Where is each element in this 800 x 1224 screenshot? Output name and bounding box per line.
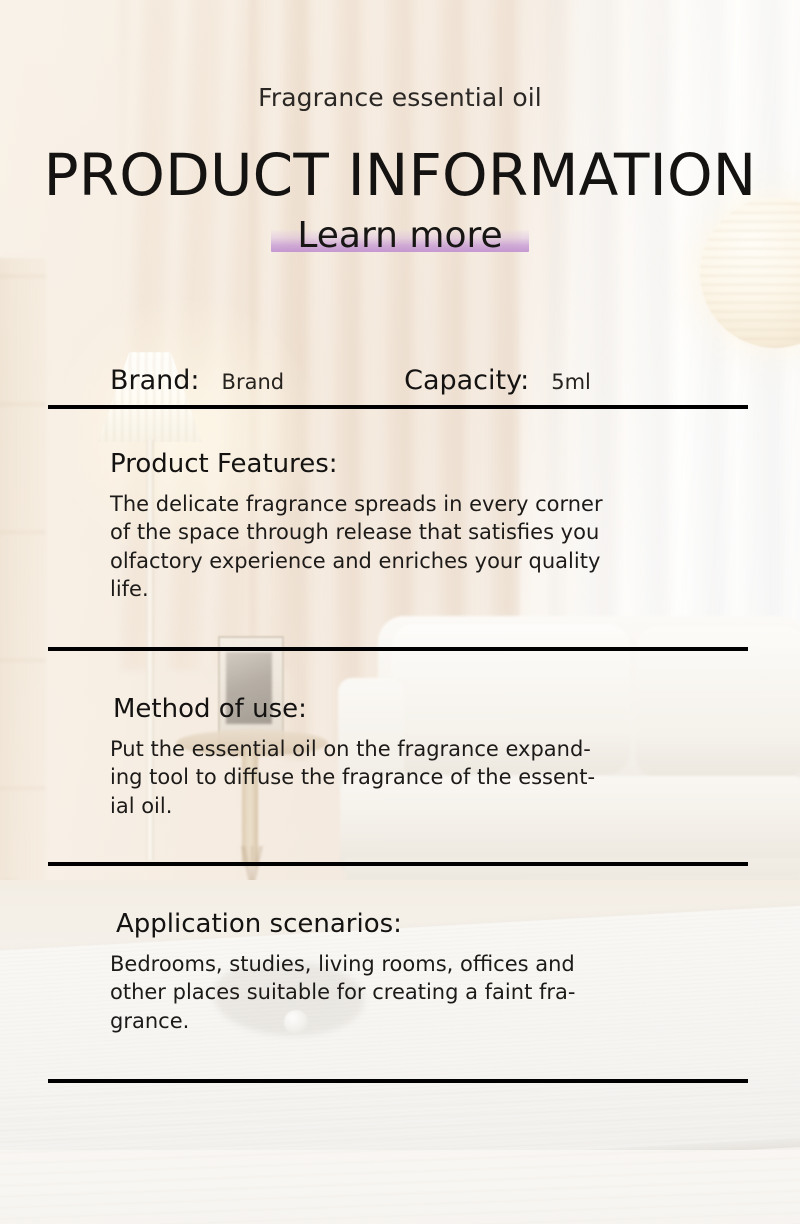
section-product-features: Product Features: The delicate fragrance… xyxy=(110,450,710,604)
section-body: Put the essential oil on the fragrance e… xyxy=(110,735,710,821)
learn-more-label: Learn more xyxy=(297,215,502,256)
section-title: Application scenarios: xyxy=(110,910,710,939)
learn-more-block: Learn more xyxy=(0,218,800,254)
divider-4 xyxy=(48,1079,748,1083)
brand-label: Brand: xyxy=(110,365,200,396)
eyebrow-text: Fragrance essential oil xyxy=(0,83,800,112)
section-application-scenarios: Application scenarios: Bedrooms, studies… xyxy=(110,910,710,1035)
divider-3 xyxy=(48,862,748,866)
product-information-page: Fragrance essential oil PRODUCT INFORMAT… xyxy=(0,0,800,1224)
learn-more-button[interactable]: Learn more xyxy=(271,218,528,254)
page-title: PRODUCT INFORMATION xyxy=(0,146,800,204)
section-title: Product Features: xyxy=(110,450,710,479)
brand-value: Brand xyxy=(222,370,285,394)
section-method-of-use: Method of use: Put the essential oil on … xyxy=(110,695,710,820)
divider-2 xyxy=(48,647,748,651)
section-body: Bedrooms, studies, living rooms, offices… xyxy=(110,950,710,1036)
section-body: The delicate fragrance spreads in every … xyxy=(110,490,710,604)
divider-1 xyxy=(48,405,748,409)
content-overlay: Fragrance essential oil PRODUCT INFORMAT… xyxy=(0,0,800,1224)
capacity-value: 5ml xyxy=(551,370,591,394)
section-title: Method of use: xyxy=(110,695,710,724)
spec-row: Brand: Brand Capacity: 5ml xyxy=(110,365,750,396)
capacity-label: Capacity: xyxy=(404,365,529,396)
